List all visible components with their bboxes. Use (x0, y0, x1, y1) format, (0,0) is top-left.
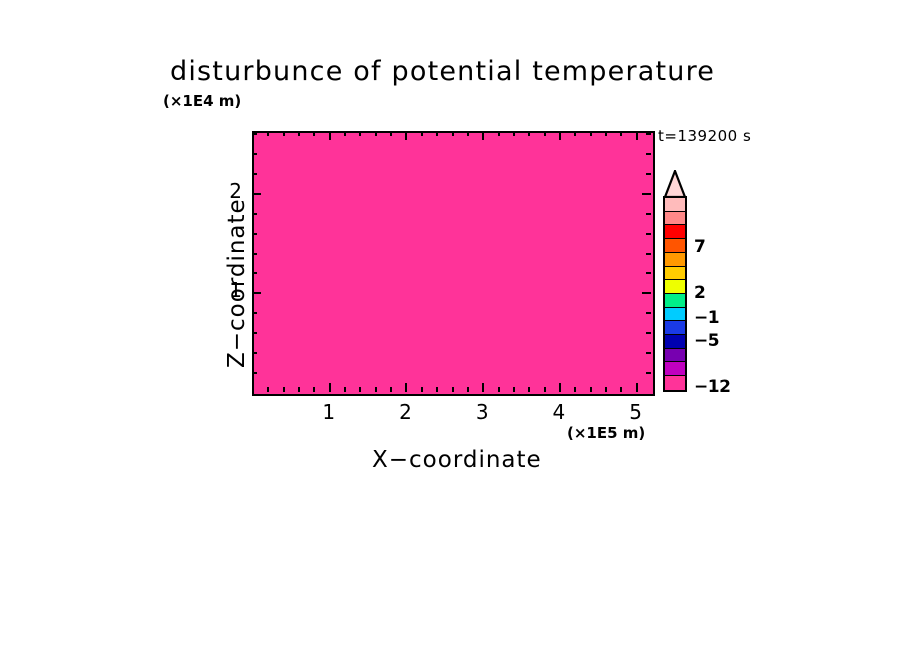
tick-mark (590, 387, 592, 392)
tick-mark (252, 292, 261, 294)
tick-mark (636, 383, 638, 392)
tick-mark (267, 387, 269, 392)
contour-field-canvas (254, 133, 653, 394)
colorbar-band (665, 308, 685, 322)
tick-mark (544, 131, 546, 136)
tick-mark (252, 253, 257, 255)
tick-mark (574, 387, 576, 392)
tick-mark (298, 131, 300, 136)
colorbar (663, 196, 687, 392)
tick-mark (436, 387, 438, 392)
tick-mark (605, 387, 607, 392)
tick-mark (528, 387, 530, 392)
tick-mark (513, 387, 515, 392)
tick-mark (498, 131, 500, 136)
tick-mark (452, 131, 454, 136)
colorbar-tick-label: −1 (694, 308, 719, 328)
tick-mark (482, 383, 484, 392)
tick-mark (646, 173, 651, 175)
tick-mark (313, 131, 315, 136)
tick-mark (252, 173, 257, 175)
tick-mark (390, 387, 392, 392)
tick-mark (467, 131, 469, 136)
tick-mark (298, 387, 300, 392)
x-tick-label: 1 (309, 400, 349, 424)
tick-mark (646, 153, 651, 155)
colorbar-tick-label: −12 (694, 377, 730, 397)
tick-mark (359, 387, 361, 392)
x-axis-title: X−coordinate (372, 447, 542, 473)
tick-mark (252, 372, 257, 374)
tick-mark (283, 387, 285, 392)
tick-mark (267, 131, 269, 136)
tick-mark (642, 193, 651, 195)
colorbar-tick-label: 2 (694, 283, 705, 303)
tick-mark (252, 312, 257, 314)
page-title: disturbunce of potential temperature (170, 56, 770, 87)
tick-mark (390, 131, 392, 136)
colorbar-band (665, 294, 685, 308)
tick-mark (559, 131, 561, 140)
x-axis-unit-label: (×1E5 m) (567, 424, 645, 442)
tick-mark (646, 312, 651, 314)
tick-mark (646, 233, 651, 235)
tick-mark (405, 131, 407, 140)
tick-mark (252, 352, 257, 354)
x-tick-label: 4 (539, 400, 579, 424)
contour-plot-area (252, 131, 655, 396)
figure-root: disturbunce of potential temperature (×1… (0, 0, 904, 654)
tick-mark (344, 387, 346, 392)
tick-mark (405, 383, 407, 392)
tick-mark (482, 131, 484, 140)
tick-mark (329, 383, 331, 392)
colorbar-band (665, 253, 685, 267)
tick-mark (574, 131, 576, 136)
tick-mark (252, 193, 261, 195)
tick-mark (590, 131, 592, 136)
tick-mark (498, 387, 500, 392)
x-tick-label: 3 (462, 400, 502, 424)
colorbar-tick-label: −5 (694, 331, 719, 351)
tick-mark (252, 272, 257, 274)
y-axis-title: Z−coordinate (224, 148, 250, 368)
tick-mark (646, 372, 651, 374)
colorbar-band (665, 280, 685, 294)
tick-mark (605, 131, 607, 136)
tick-mark (528, 131, 530, 136)
tick-mark (646, 352, 651, 354)
colorbar-band (665, 362, 685, 376)
tick-mark (252, 332, 257, 334)
colorbar-band (665, 376, 685, 390)
tick-mark (646, 272, 651, 274)
colorbar-arrow-tip (663, 170, 687, 198)
tick-mark (375, 131, 377, 136)
tick-mark (375, 387, 377, 392)
colorbar-band (665, 335, 685, 349)
tick-mark (252, 233, 257, 235)
tick-mark (283, 131, 285, 136)
tick-mark (642, 292, 651, 294)
tick-mark (620, 387, 622, 392)
tick-mark (359, 131, 361, 136)
tick-mark (636, 131, 638, 140)
x-tick-label: 5 (616, 400, 656, 424)
colorbar-band (665, 225, 685, 239)
tick-mark (646, 213, 651, 215)
tick-mark (646, 332, 651, 334)
colorbar-tick-label: 7 (694, 237, 705, 257)
colorbar-band (665, 198, 685, 212)
tick-mark (559, 383, 561, 392)
time-annotation: t=139200 s (658, 127, 751, 145)
tick-mark (436, 131, 438, 136)
tick-mark (313, 387, 315, 392)
tick-mark (421, 387, 423, 392)
colorbar-band (665, 267, 685, 281)
tick-mark (620, 131, 622, 136)
tick-mark (452, 387, 454, 392)
colorbar-band (665, 349, 685, 363)
colorbar-band (665, 212, 685, 226)
x-tick-label: 2 (385, 400, 425, 424)
tick-mark (513, 131, 515, 136)
y-axis-unit-label: (×1E4 m) (163, 92, 241, 110)
tick-mark (329, 131, 331, 140)
tick-mark (252, 133, 257, 135)
colorbar-band (665, 321, 685, 335)
tick-mark (344, 131, 346, 136)
tick-mark (646, 133, 651, 135)
tick-mark (544, 387, 546, 392)
tick-mark (421, 131, 423, 136)
colorbar-band (665, 239, 685, 253)
tick-mark (467, 387, 469, 392)
tick-mark (646, 253, 651, 255)
tick-mark (252, 153, 257, 155)
tick-mark (252, 213, 257, 215)
